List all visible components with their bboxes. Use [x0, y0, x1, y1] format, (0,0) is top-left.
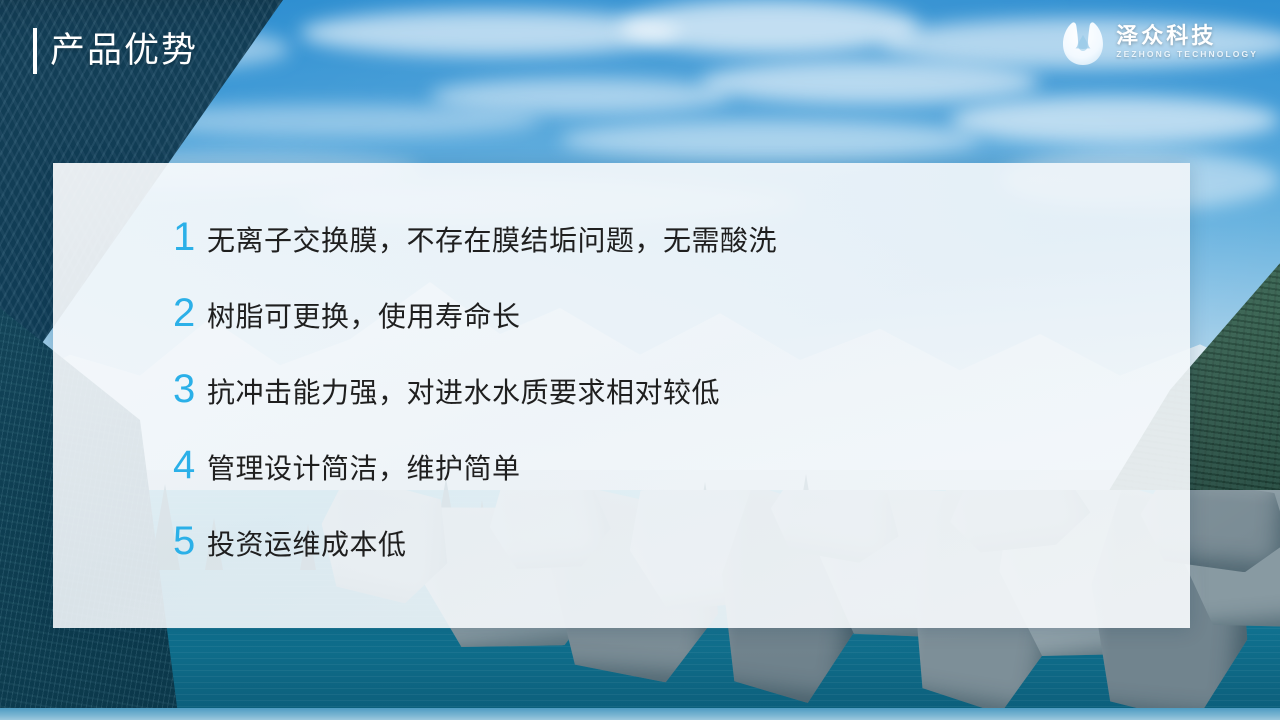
content-card: 1无离子交换膜，不存在膜结垢问题，无需酸洗2树脂可更换，使用寿命长3抗冲击能力强…	[53, 163, 1190, 628]
list-item-number: 4	[173, 439, 207, 491]
water-drop-petal-emblem-icon	[1059, 18, 1107, 66]
list-item: 1无离子交换膜，不存在膜结垢问题，无需酸洗	[173, 211, 1150, 267]
list-item-number: 1	[173, 211, 207, 263]
list-item-number: 2	[173, 287, 207, 339]
title-accent-bar	[33, 28, 37, 74]
slide: 产品优势 泽众科技 ZEZHONG T	[0, 0, 1280, 720]
list-item: 4管理设计简洁，维护简单	[173, 439, 1150, 495]
list-item: 3抗冲击能力强，对进水水质要求相对较低	[173, 363, 1150, 419]
list-item: 5投资运维成本低	[173, 515, 1150, 571]
slide-header: 产品优势 泽众科技 ZEZHONG T	[0, 0, 1280, 110]
list-item: 2树脂可更换，使用寿命长	[173, 287, 1150, 343]
list-item-label: 抗冲击能力强，对进水水质要求相对较低	[207, 367, 720, 419]
list-item-number: 3	[173, 363, 207, 415]
advantage-list: 1无离子交换膜，不存在膜结垢问题，无需酸洗2树脂可更换，使用寿命长3抗冲击能力强…	[173, 211, 1150, 571]
logo-company-cn: 泽众科技	[1116, 24, 1258, 48]
list-item-label: 树脂可更换，使用寿命长	[207, 291, 521, 343]
shoreline	[0, 708, 1280, 720]
logo-text: 泽众科技 ZEZHONG TECHNOLOGY	[1116, 24, 1258, 60]
page-title-label: 产品优势	[50, 28, 198, 74]
page-title: 产品优势	[33, 28, 198, 74]
list-item-number: 5	[173, 515, 207, 567]
list-item-label: 投资运维成本低	[207, 519, 407, 571]
list-item-label: 无离子交换膜，不存在膜结垢问题，无需酸洗	[207, 215, 777, 267]
list-item-label: 管理设计简洁，维护简单	[207, 443, 521, 495]
cloud	[560, 120, 980, 160]
logo-company-en: ZEZHONG TECHNOLOGY	[1116, 48, 1258, 60]
company-logo: 泽众科技 ZEZHONG TECHNOLOGY	[1059, 18, 1258, 66]
